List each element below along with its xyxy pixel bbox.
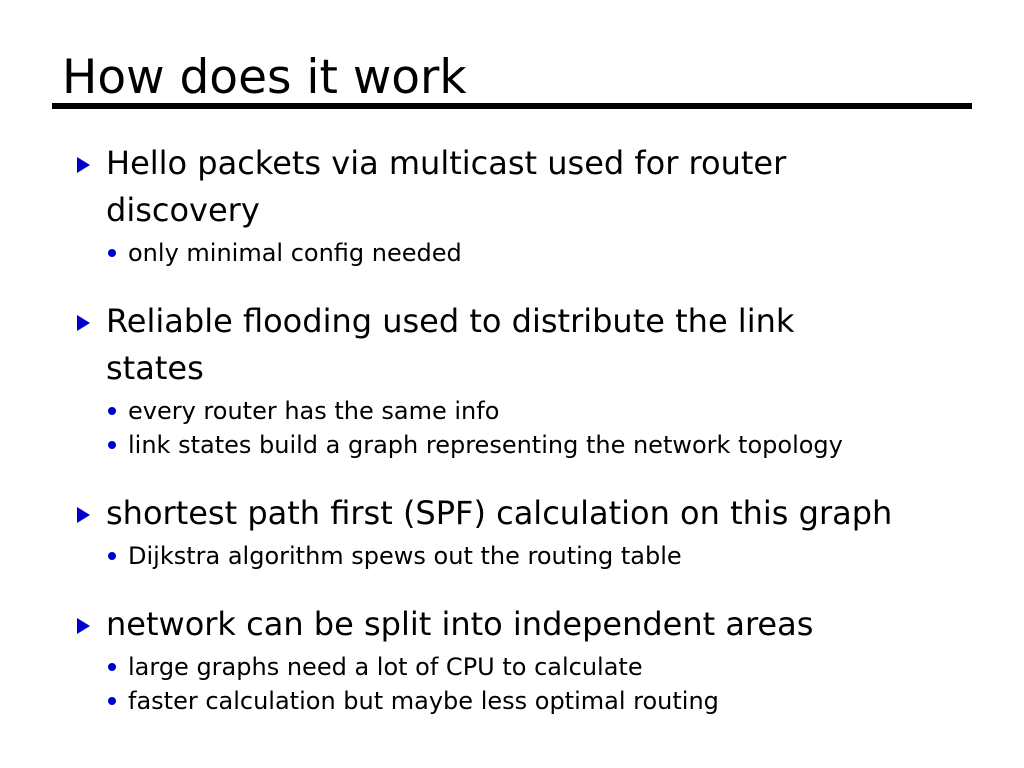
bullet-level2: faster calculation but maybe less optima… [106, 684, 1024, 718]
bullet-level2: only minimal config needed [106, 236, 1024, 270]
bullet-level1-label: Reliable flooding used to distribute the… [106, 302, 794, 387]
dot-bullet-icon [108, 249, 116, 257]
bullet-level1-label: shortest path first (SPF) calculation on… [106, 494, 892, 532]
bullet-level1: Hello packets via multicast used for rou… [76, 140, 896, 234]
triangle-bullet-icon [77, 507, 90, 523]
bullet-group: Hello packets via multicast used for rou… [0, 140, 1024, 270]
bullet-level2-label: faster calculation but maybe less optima… [128, 687, 719, 715]
bullet-level2: every router has the same info [106, 394, 1024, 428]
sub-bullet-list: only minimal config needed [0, 236, 1024, 270]
bullet-level2-label: link states build a graph representing t… [128, 431, 843, 459]
bullet-list: Hello packets via multicast used for rou… [0, 140, 1024, 718]
triangle-bullet-icon [77, 618, 90, 634]
bullet-level1-label: network can be split into independent ar… [106, 605, 813, 643]
bullet-level1: shortest path first (SPF) calculation on… [76, 490, 896, 537]
bullet-level2-label: only minimal config needed [128, 239, 462, 267]
bullet-level2: link states build a graph representing t… [106, 428, 1024, 462]
bullet-group: network can be split into independent ar… [0, 601, 1024, 718]
bullet-level2-label: Dijkstra algorithm spews out the routing… [128, 542, 682, 570]
bullet-group: Reliable flooding used to distribute the… [0, 298, 1024, 462]
slide: How does it work Hello packets via multi… [0, 0, 1024, 768]
title-underline-rule [52, 103, 972, 109]
triangle-bullet-icon [77, 315, 90, 331]
dot-bullet-icon [108, 697, 116, 705]
dot-bullet-icon [108, 441, 116, 449]
dot-bullet-icon [108, 407, 116, 415]
bullet-level2-label: large graphs need a lot of CPU to calcul… [128, 653, 643, 681]
bullet-level2-label: every router has the same info [128, 397, 499, 425]
sub-bullet-list: Dijkstra algorithm spews out the routing… [0, 539, 1024, 573]
sub-bullet-list: large graphs need a lot of CPU to calcul… [0, 650, 1024, 718]
triangle-bullet-icon [77, 157, 90, 173]
sub-bullet-list: every router has the same info link stat… [0, 394, 1024, 462]
dot-bullet-icon [108, 552, 116, 560]
bullet-level2: Dijkstra algorithm spews out the routing… [106, 539, 1024, 573]
page-title: How does it work [62, 52, 467, 104]
dot-bullet-icon [108, 663, 116, 671]
bullet-level2: large graphs need a lot of CPU to calcul… [106, 650, 1024, 684]
bullet-level1: Reliable flooding used to distribute the… [76, 298, 896, 392]
bullet-level1: network can be split into independent ar… [76, 601, 896, 648]
bullet-group: shortest path first (SPF) calculation on… [0, 490, 1024, 573]
bullet-level1-label: Hello packets via multicast used for rou… [106, 144, 786, 229]
